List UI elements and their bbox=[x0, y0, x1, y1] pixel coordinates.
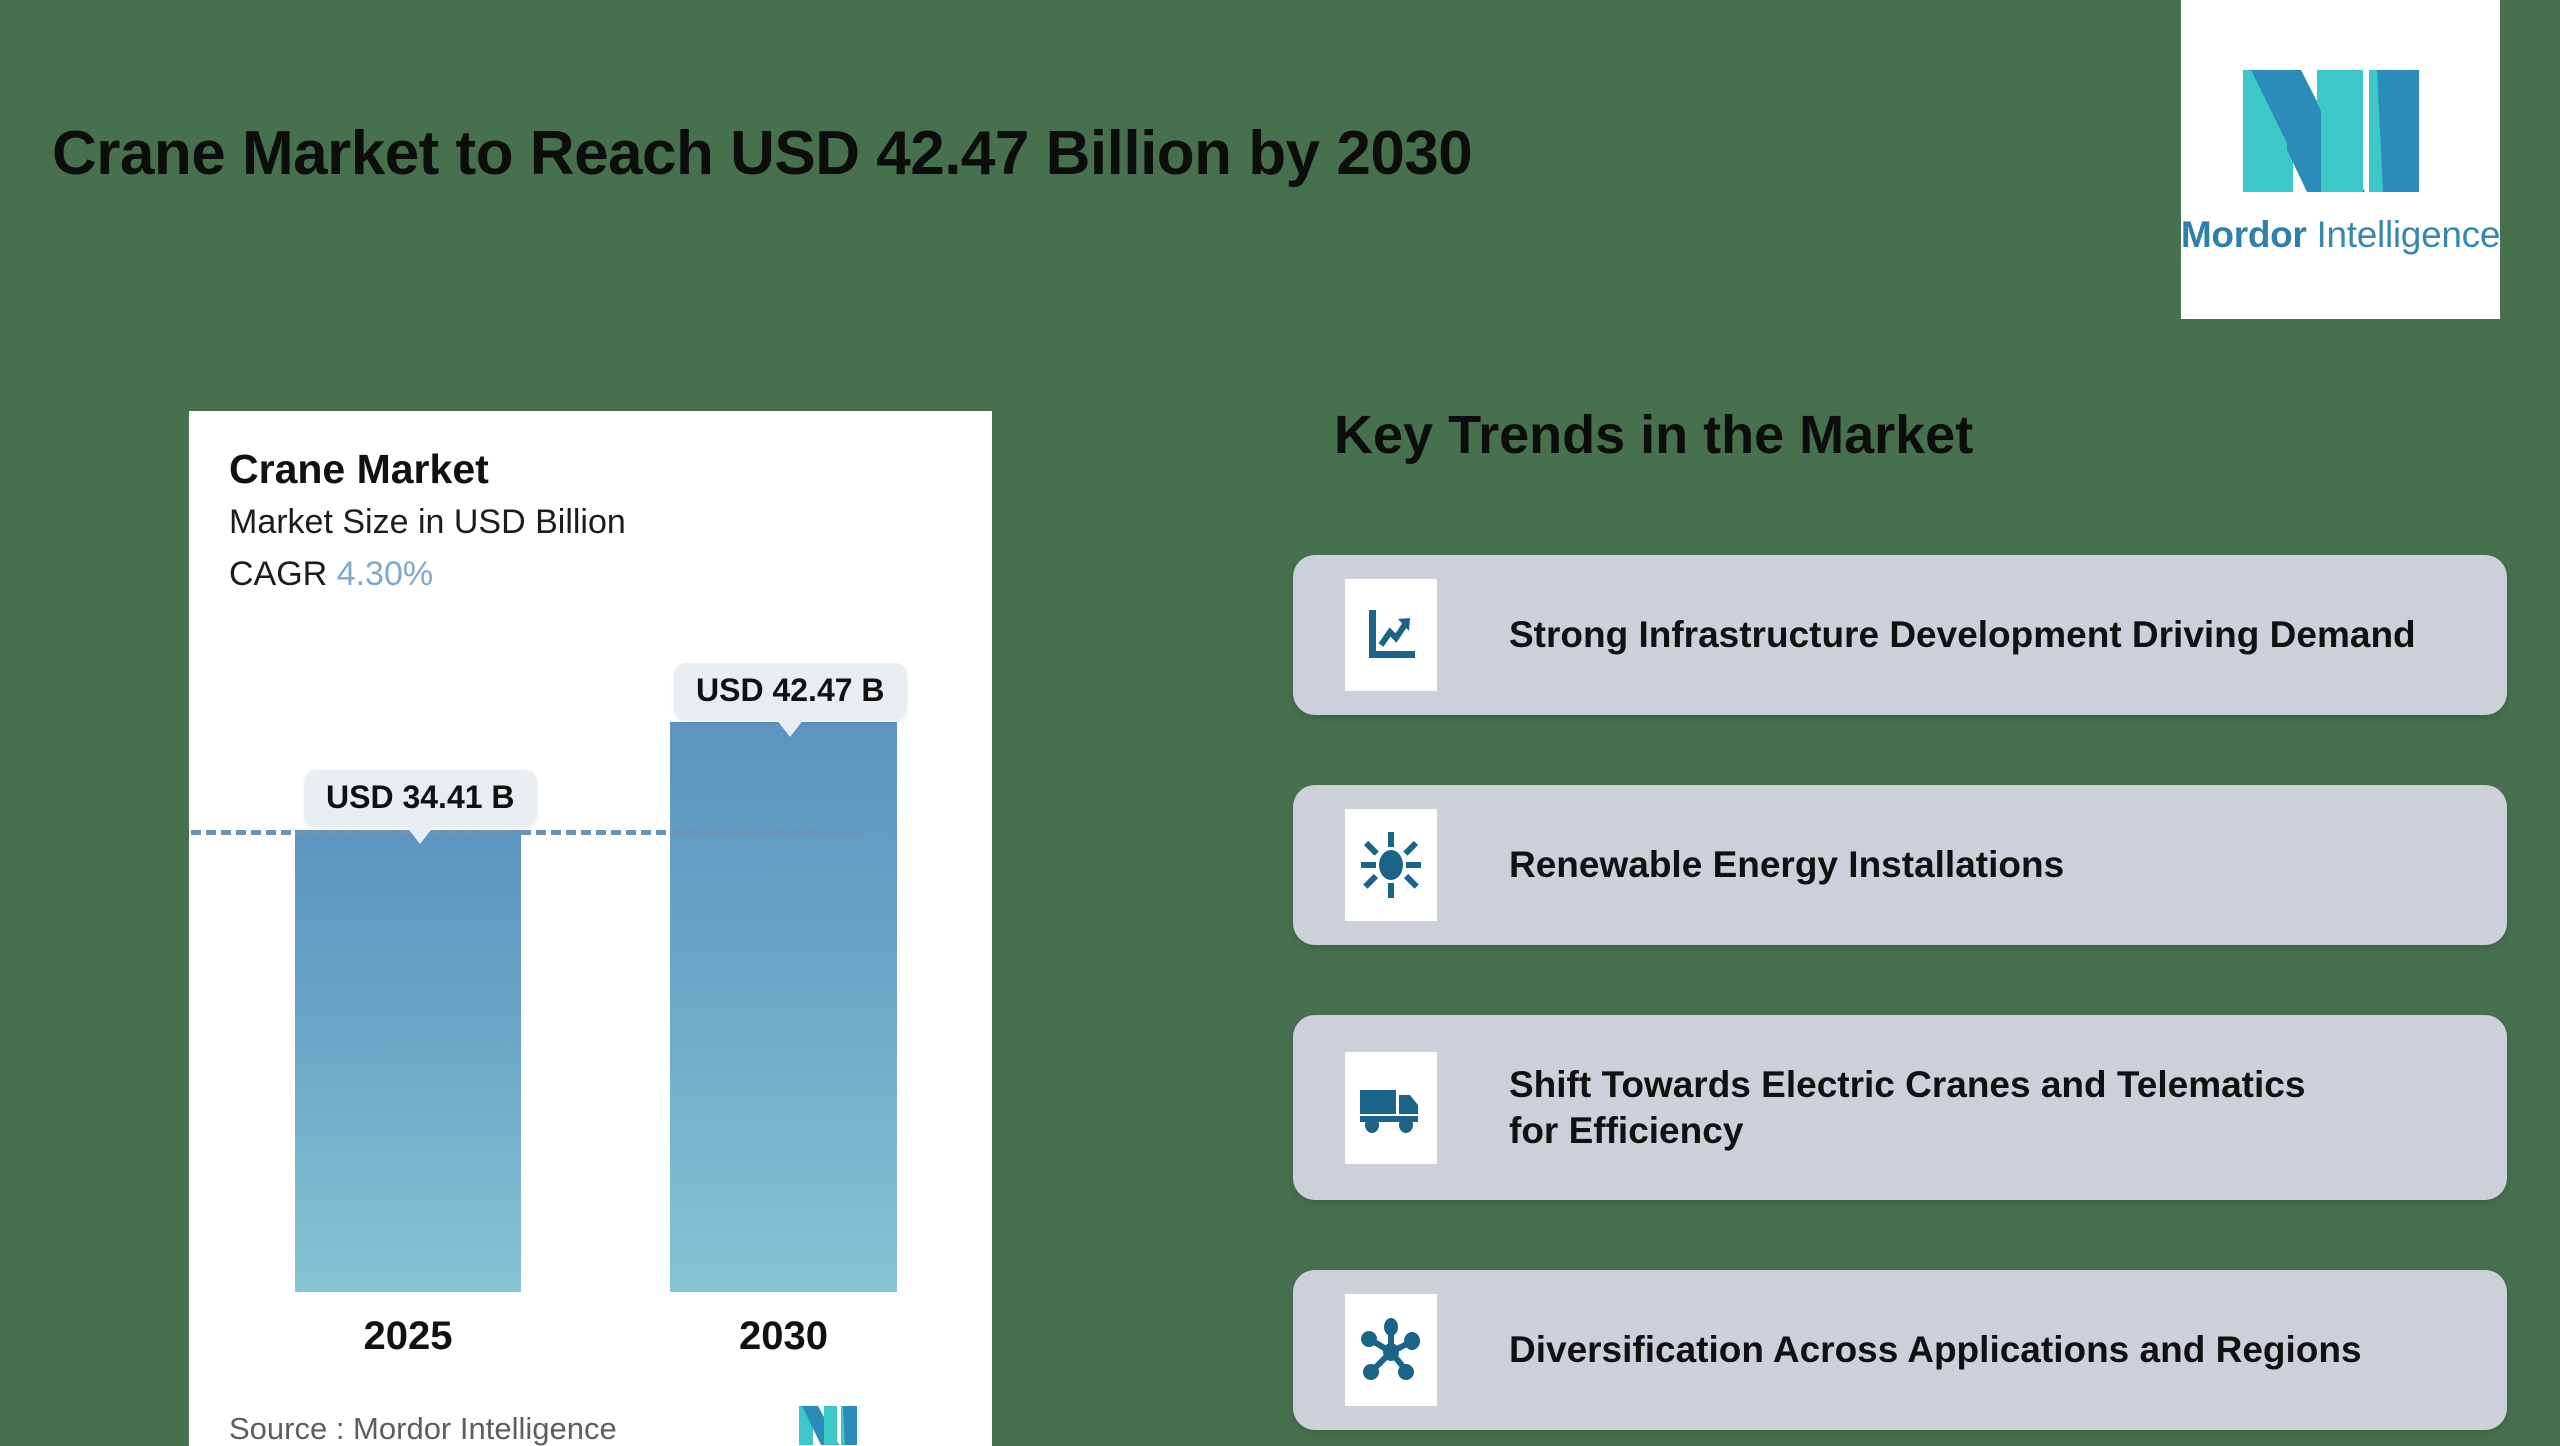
bar-2030 bbox=[670, 722, 897, 1292]
growth-chart-icon-box bbox=[1345, 579, 1437, 691]
trend-card-electric-cranes[interactable]: Shift Towards Electric Cranes and Telema… bbox=[1293, 1015, 2507, 1200]
growth-chart-icon bbox=[1360, 604, 1422, 666]
trend-label: Shift Towards Electric Cranes and Telema… bbox=[1509, 1062, 2305, 1152]
sun-icon-box bbox=[1345, 809, 1437, 921]
chart-card: Crane Market Market Size in USD Billion … bbox=[189, 411, 992, 1446]
plot-area: USD 34.41 B USD 42.47 B 2025 2030 bbox=[189, 411, 992, 1446]
truck-icon bbox=[1358, 1082, 1424, 1134]
chart-source: Source : Mordor Intelligence bbox=[229, 1411, 617, 1446]
truck-icon-box bbox=[1345, 1052, 1437, 1164]
trend-card-diversification[interactable]: Diversification Across Applications and … bbox=[1293, 1270, 2507, 1430]
sun-icon bbox=[1360, 831, 1422, 899]
brand-name-strong: Mordor bbox=[2181, 214, 2307, 255]
page-title: Crane Market to Reach USD 42.47 Billion … bbox=[52, 118, 1472, 189]
mordor-m-logo-icon bbox=[799, 1404, 861, 1446]
bar-2025 bbox=[295, 830, 521, 1292]
trend-label: Diversification Across Applications and … bbox=[1509, 1327, 2362, 1372]
brand-name-light: Intelligence bbox=[2307, 214, 2501, 255]
bar-value-label-2025: USD 34.41 B bbox=[304, 770, 537, 827]
bar-value-label-2030: USD 42.47 B bbox=[674, 663, 907, 720]
brand-logo-text: Mordor Intelligence bbox=[2181, 214, 2500, 256]
network-hub-icon-box bbox=[1345, 1294, 1437, 1406]
trend-card-strong-infrastructure[interactable]: Strong Infrastructure Development Drivin… bbox=[1293, 555, 2507, 715]
mordor-m-logo-icon bbox=[2243, 64, 2439, 198]
brand-logo: Mordor Intelligence bbox=[2181, 0, 2500, 319]
trend-card-renewable-energy[interactable]: Renewable Energy Installations bbox=[1293, 785, 2507, 945]
x-axis-label-2025: 2025 bbox=[295, 1314, 521, 1359]
x-axis-label-2030: 2030 bbox=[670, 1314, 897, 1359]
trend-label: Strong Infrastructure Development Drivin… bbox=[1509, 612, 2416, 657]
dashed-reference-line bbox=[189, 830, 861, 835]
network-hub-icon bbox=[1360, 1317, 1422, 1383]
trend-label: Renewable Energy Installations bbox=[1509, 842, 2064, 887]
trends-heading: Key Trends in the Market bbox=[1334, 404, 1973, 466]
